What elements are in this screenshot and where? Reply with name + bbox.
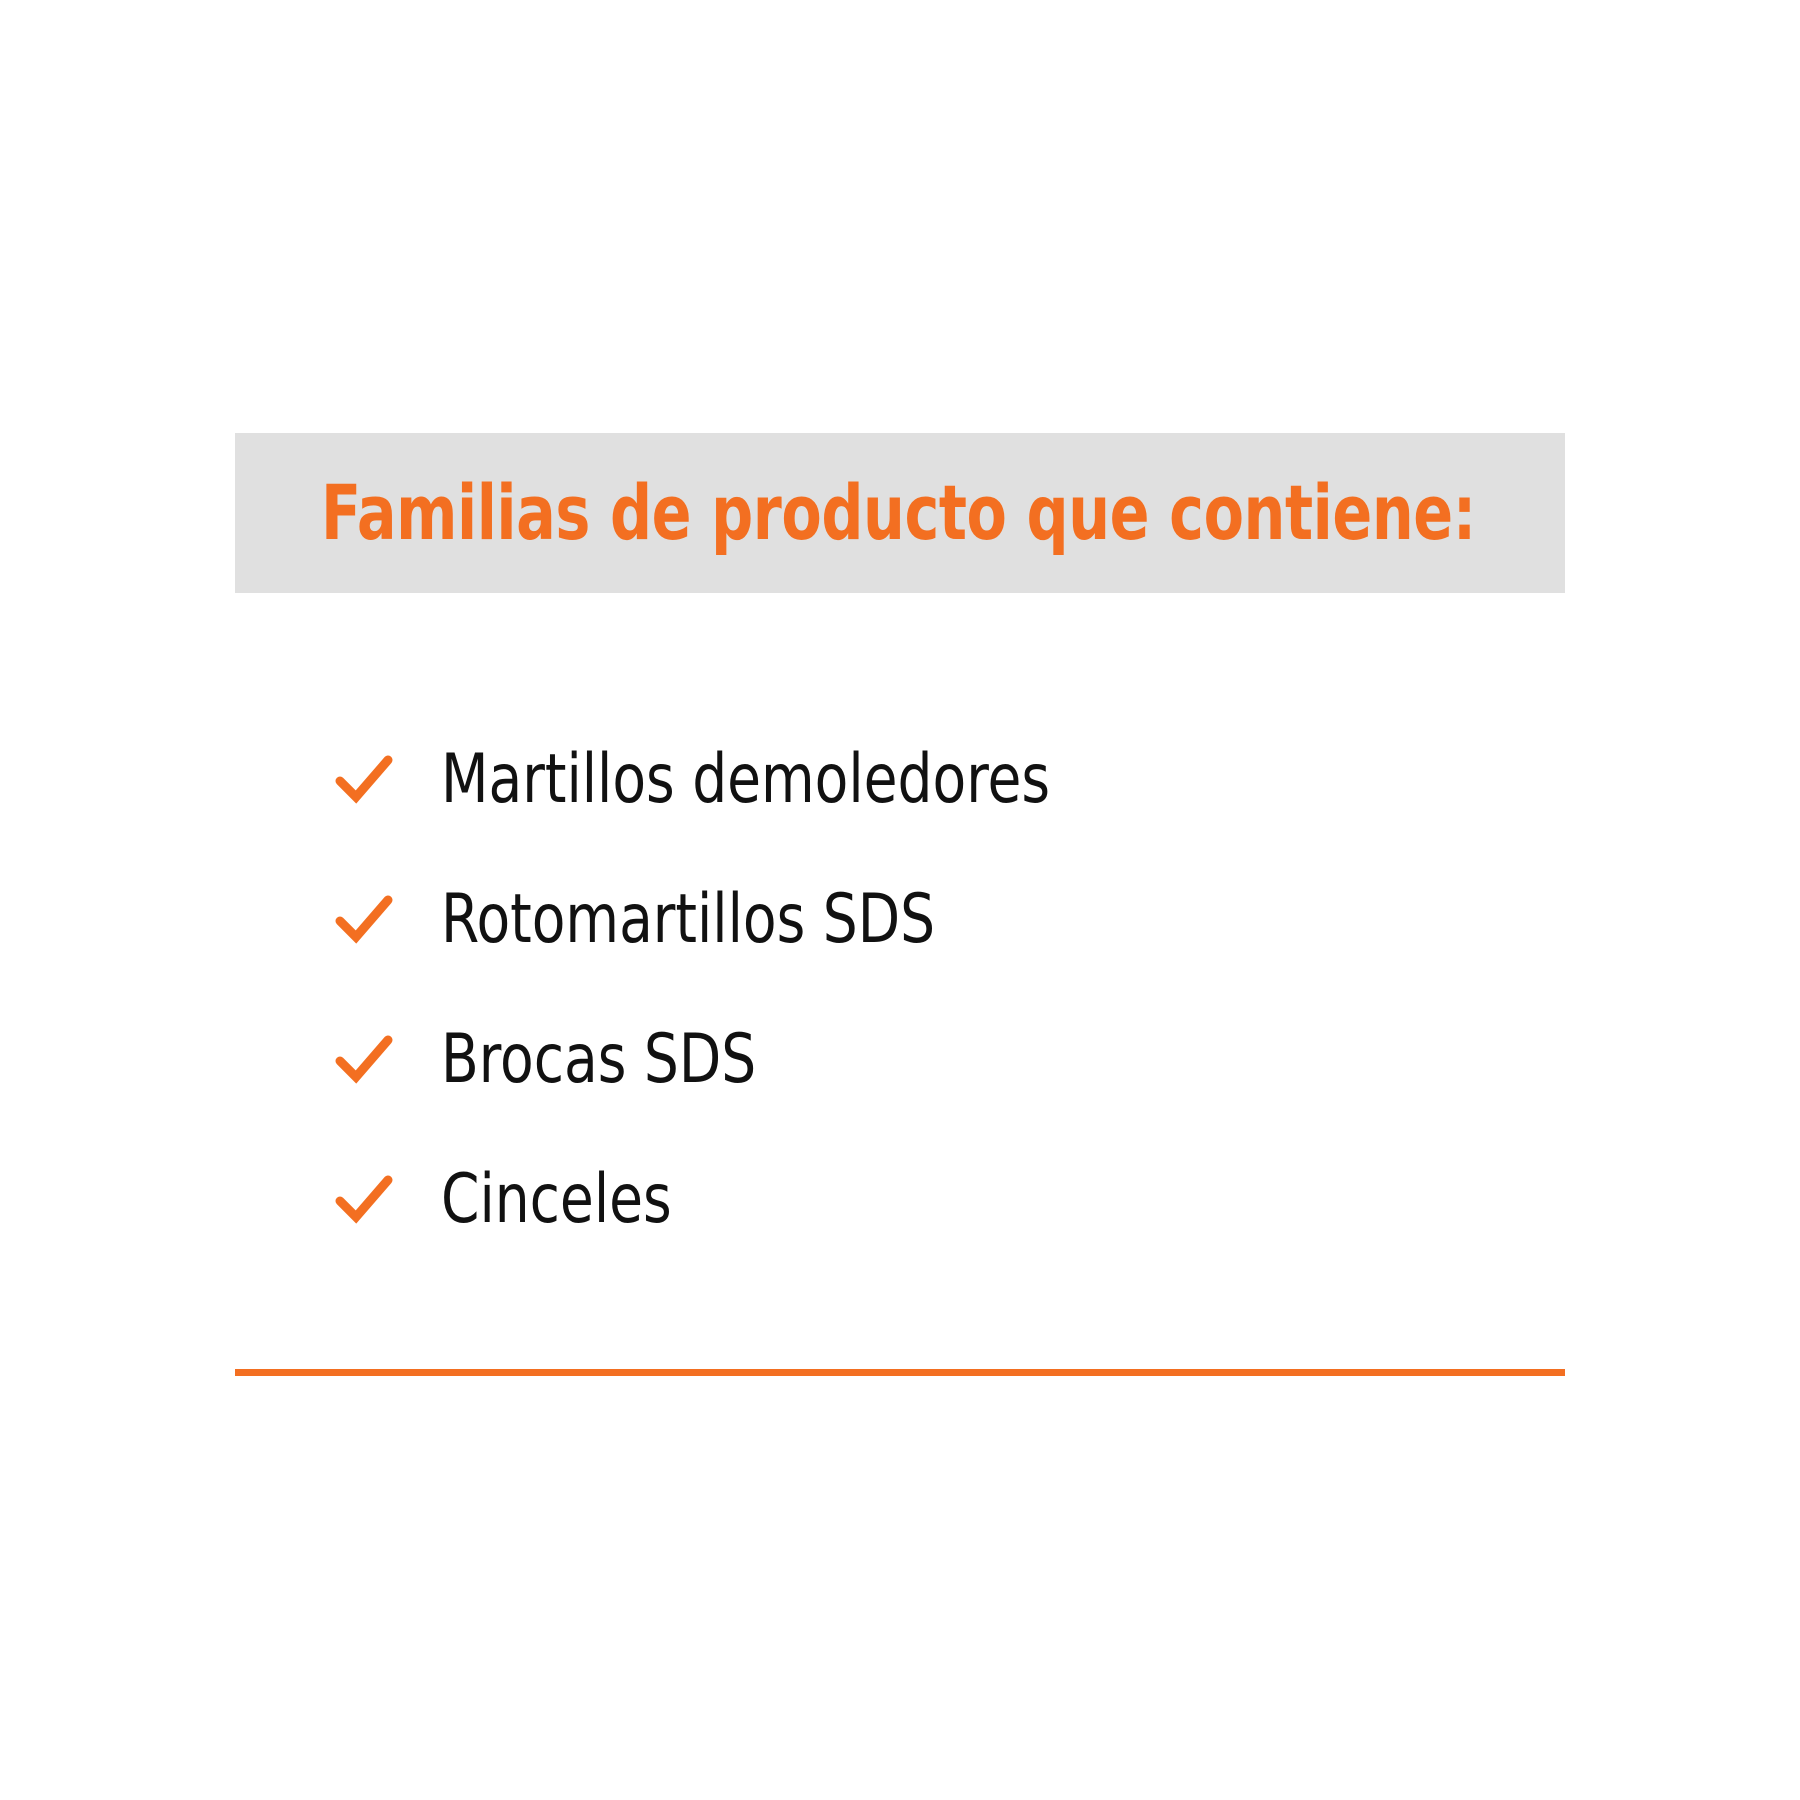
page-title: Familias de producto que contiene:: [235, 475, 1476, 551]
product-families-card: Familias de producto que contiene: Marti…: [0, 0, 1800, 1800]
list-item-label: Brocas SDS: [441, 1026, 756, 1094]
check-icon: [335, 891, 393, 949]
list-item-label: Martillos demoledores: [441, 746, 1050, 814]
header-band: Familias de producto que contiene:: [235, 433, 1565, 593]
check-icon: [335, 751, 393, 809]
bottom-divider: [235, 1369, 1565, 1376]
check-icon: [335, 1171, 393, 1229]
list-item: Rotomartillos SDS: [335, 850, 1565, 990]
list-item-label: Rotomartillos SDS: [441, 886, 935, 954]
list-item: Cinceles: [335, 1130, 1565, 1270]
list-item: Martillos demoledores: [335, 710, 1565, 850]
product-family-list: Martillos demoledores Rotomartillos SDS …: [335, 710, 1565, 1270]
list-item-label: Cinceles: [441, 1166, 672, 1234]
check-icon: [335, 1031, 393, 1089]
list-item: Brocas SDS: [335, 990, 1565, 1130]
